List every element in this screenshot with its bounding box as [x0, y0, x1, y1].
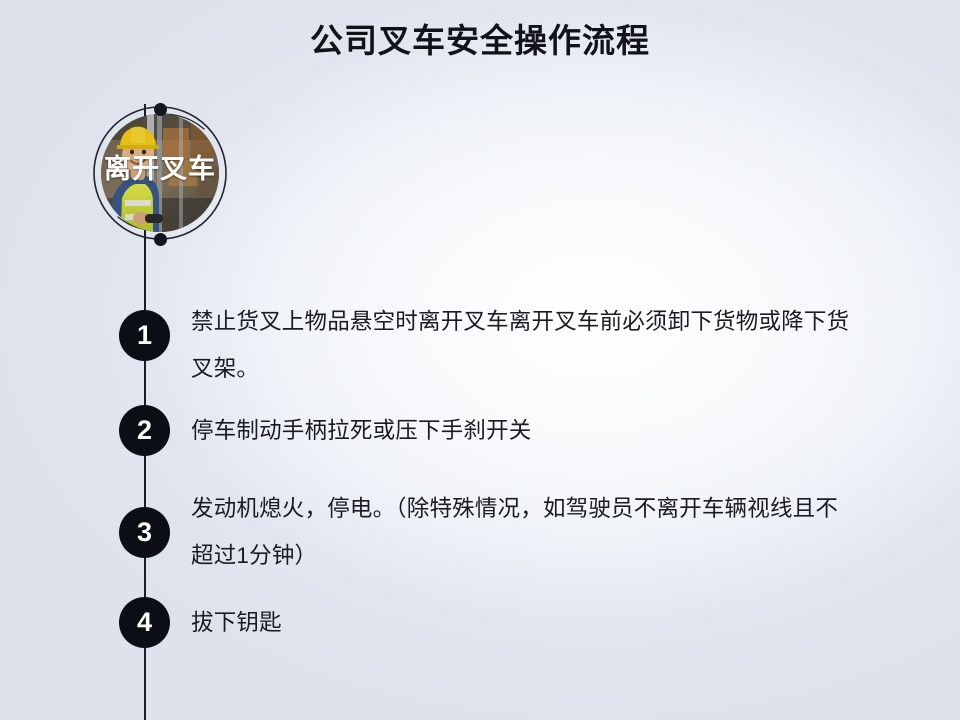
step-text: 发动机熄火，停电。（除特殊情况，如驾驶员不离开车辆视线且不超过1分钟） — [191, 485, 851, 579]
slide-canvas: 公司叉车安全操作流程 — [0, 0, 960, 720]
step-text: 停车制动手柄拉死或压下手刹开关 — [191, 407, 851, 454]
step-text: 拔下钥匙 — [191, 599, 851, 646]
step-number-badge: 3 — [119, 507, 170, 558]
badge: 离开叉车 — [92, 105, 228, 241]
step-text: 禁止货叉上物品悬空时离开叉车离开叉车前必须卸下货物或降下货叉架。 — [191, 298, 851, 392]
page-title: 公司叉车安全操作流程 — [0, 18, 960, 64]
step-number-badge: 2 — [119, 405, 170, 456]
spine-dot-bottom — [154, 233, 167, 246]
spine-dot-top — [154, 103, 167, 116]
step-number-badge: 1 — [119, 310, 170, 361]
badge-label: 离开叉车 — [74, 152, 246, 186]
step-number-badge: 4 — [119, 597, 170, 648]
